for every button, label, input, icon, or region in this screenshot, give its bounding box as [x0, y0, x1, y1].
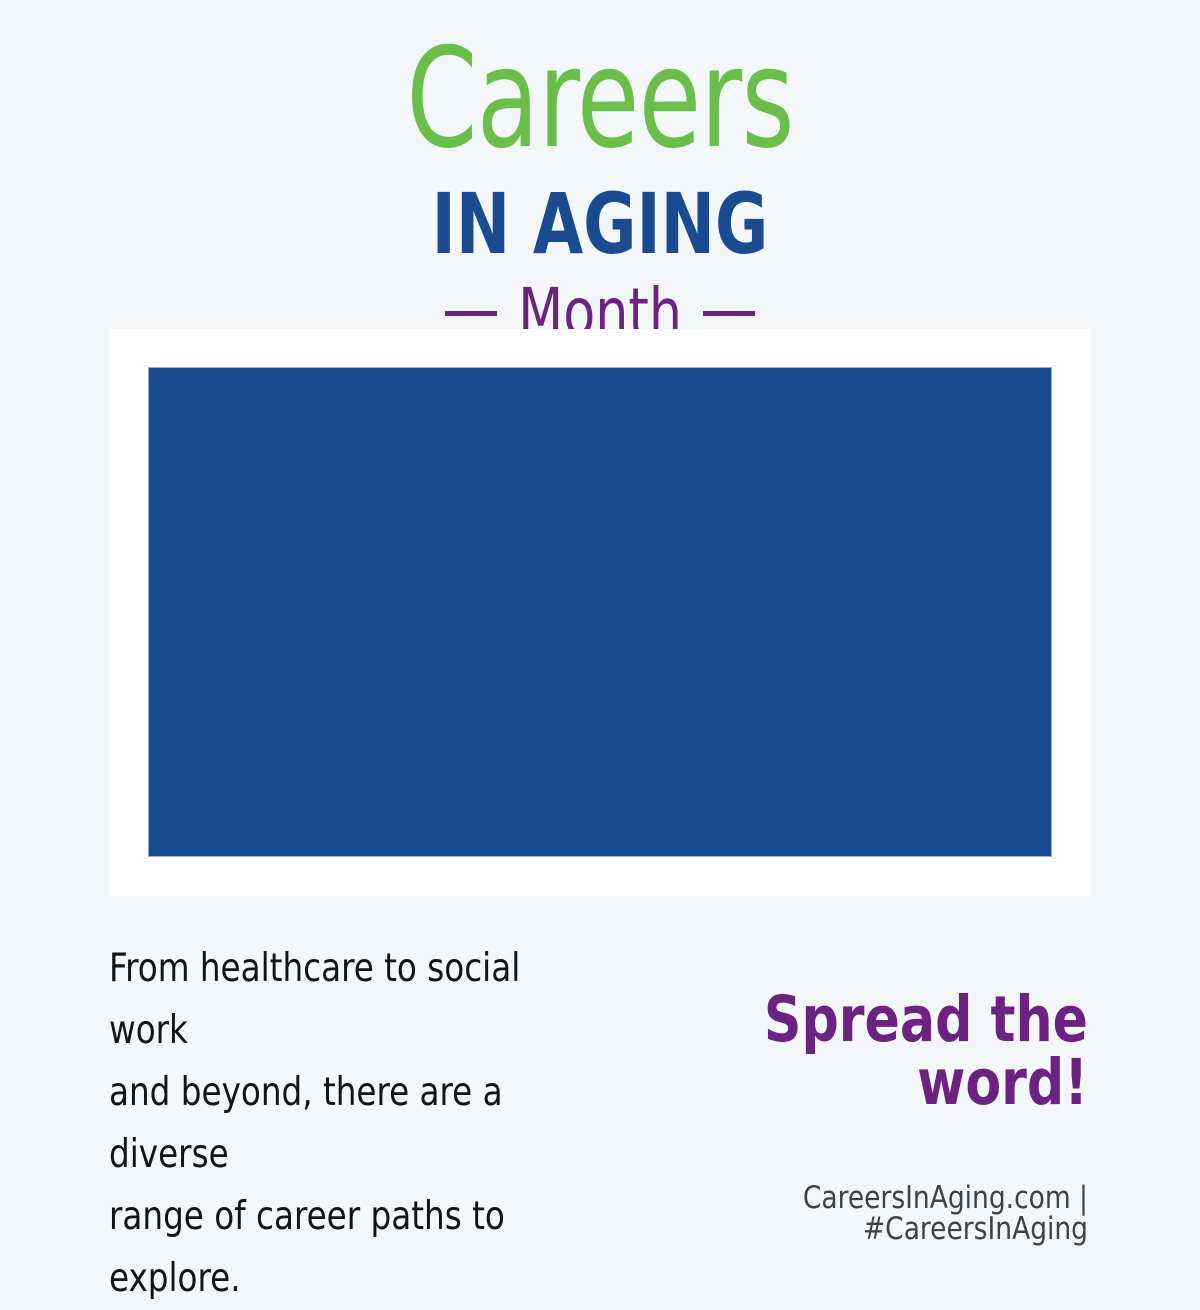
dash-right-icon [703, 311, 755, 316]
tagline-text: From healthcare to social work and beyon… [109, 938, 574, 1310]
logo-word-in-aging: IN AGING [84, 182, 1116, 266]
media-card [109, 329, 1091, 896]
careers-in-aging-poster: Careers IN AGING Month From healthcare t… [0, 0, 1200, 1200]
logo-lockup: Careers IN AGING Month [0, 30, 1200, 346]
featured-image [148, 367, 1052, 857]
dash-left-icon [445, 311, 497, 316]
cta-headline: Spread the word! [610, 988, 1088, 1114]
cta-footer-link[interactable]: CareersInAging.com | #CareersInAging [594, 1183, 1088, 1245]
call-to-action-block: Spread the word! CareersInAging.com | #C… [568, 988, 1088, 1245]
logo-word-careers: Careers [108, 30, 1092, 168]
